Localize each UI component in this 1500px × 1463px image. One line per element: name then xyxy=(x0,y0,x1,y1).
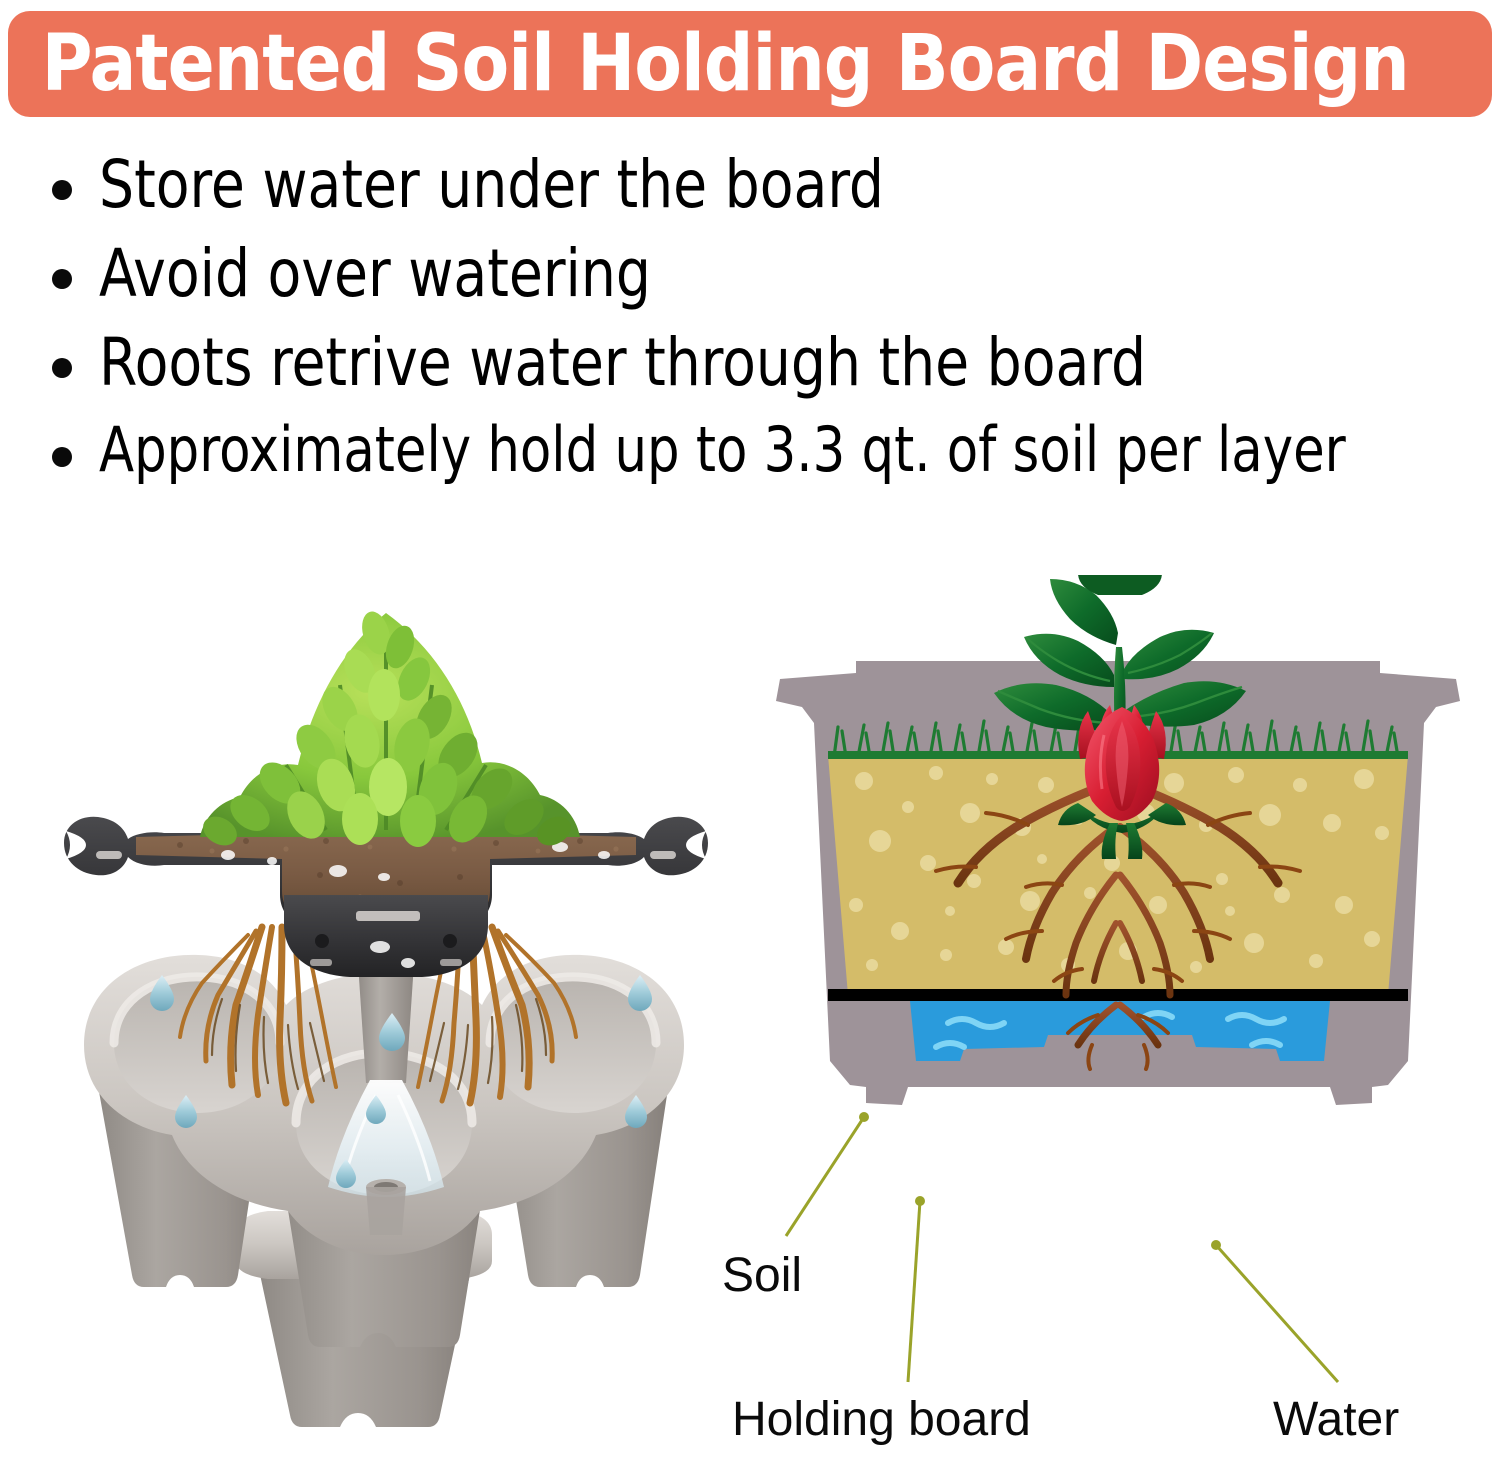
stacked-planter-photo-panel xyxy=(40,575,730,1445)
soil-holding-board xyxy=(64,817,708,977)
infographic-page: Patented Soil Holding Board Design Store… xyxy=(0,0,1500,1463)
callout-label-soil: Soil xyxy=(722,1248,802,1303)
pot-cross-section-illustration xyxy=(760,575,1470,1275)
page-title: Patented Soil Holding Board Design xyxy=(8,25,1409,103)
header-banner: Patented Soil Holding Board Design xyxy=(8,11,1492,117)
callout-label-water: Water xyxy=(1273,1392,1399,1447)
rose-bloom xyxy=(1052,703,1192,863)
feature-bullet-list: Store water under the board Avoid over w… xyxy=(0,150,1500,502)
bullet-label-4: Approximately hold up to 3.3 qt. of soil… xyxy=(99,417,1346,483)
bullet-dot-icon xyxy=(52,180,72,200)
bullet-item-2: Avoid over watering xyxy=(0,239,1500,309)
callout-label-holding-board: Holding board xyxy=(732,1392,1031,1447)
bullet-dot-icon xyxy=(52,269,72,289)
bullet-label-2: Avoid over watering xyxy=(99,239,651,309)
pot-cross-section-panel xyxy=(760,575,1470,1455)
bullet-dot-icon xyxy=(52,358,72,378)
bullet-item-1: Store water under the board xyxy=(0,150,1500,220)
stacked-planter-illustration xyxy=(40,575,730,1445)
bullet-item-3: Roots retrive water through the board xyxy=(0,328,1500,398)
plant-foliage xyxy=(198,608,580,851)
bullet-label-3: Roots retrive water through the board xyxy=(99,328,1146,398)
bullet-item-4: Approximately hold up to 3.3 qt. of soil… xyxy=(0,417,1500,483)
bullet-dot-icon xyxy=(52,447,72,467)
bullet-label-1: Store water under the board xyxy=(99,150,884,220)
